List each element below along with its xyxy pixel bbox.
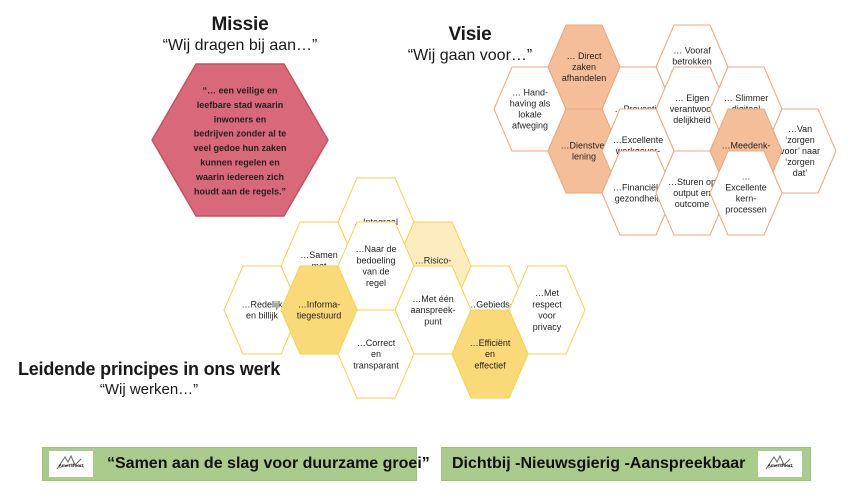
- amersfoort-logo-mark: Amersfoort: [51, 453, 91, 475]
- banner-slogan-right: Dichtbij -Nieuwsgierig -Aanspreekbaar Am…: [441, 447, 811, 481]
- missie-hexagon: “… een veilige enleefbare stad waarininw…: [152, 64, 328, 216]
- banner-left-text: “Samen aan de slag voor duurzame groei”: [107, 455, 430, 473]
- amersfoort-logo-icon: Amersfoort: [758, 451, 802, 477]
- banner-right-text: Dichtbij -Nieuwsgierig -Aanspreekbaar: [452, 455, 758, 473]
- svg-text:Amersfoort: Amersfoort: [59, 463, 84, 468]
- amersfoort-logo-icon: Amersfoort: [49, 451, 93, 477]
- amersfoort-logo-mark: Amersfoort: [760, 453, 800, 475]
- banner-slogan-left: Amersfoort “Samen aan de slag voor duurz…: [42, 447, 417, 481]
- missie-hexagon-layer: “… een veilige enleefbare stad waarininw…: [0, 0, 855, 497]
- slide-canvas: Missie “Wij dragen bij aan…” Visie “Wij …: [0, 0, 855, 497]
- svg-text:Amersfoort: Amersfoort: [768, 463, 793, 468]
